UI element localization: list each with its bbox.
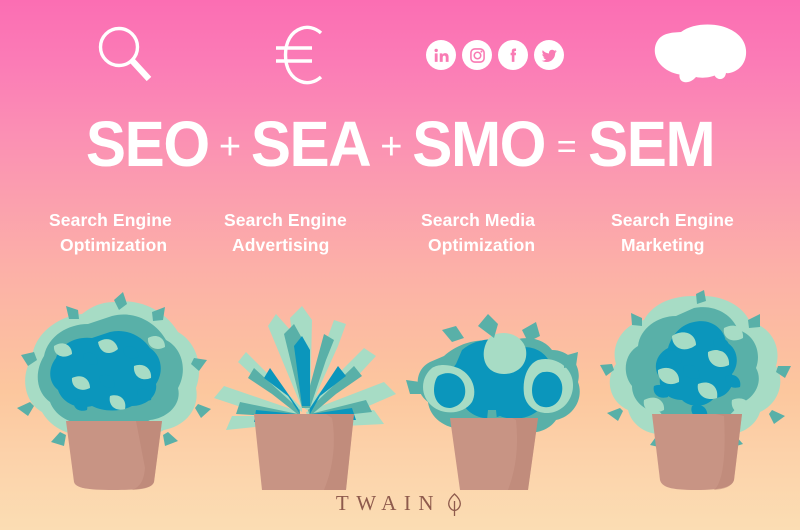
twitter-icon[interactable] bbox=[534, 40, 564, 70]
plant-bushy bbox=[14, 290, 214, 490]
subtitle-sea: Search Engine Advertising bbox=[218, 208, 408, 258]
subtitle-sea-line1: Search Engine bbox=[218, 208, 408, 233]
subtitle-smo: Search Media Optimization bbox=[416, 208, 606, 258]
social-icons-group bbox=[405, 32, 585, 78]
subtitle-seo-line2: Optimization bbox=[42, 233, 232, 258]
plant-bushy-pot bbox=[66, 421, 162, 490]
plant-tall-pot bbox=[652, 414, 742, 490]
plant-row bbox=[0, 282, 800, 490]
plant-tall bbox=[596, 290, 796, 490]
headline-operator-equals: = bbox=[550, 130, 584, 164]
brain-icon bbox=[651, 23, 749, 87]
infographic-poster: SEO + SEA + SMO = SEM Search Engine Opti… bbox=[0, 0, 800, 530]
search-icon-cell bbox=[50, 20, 200, 90]
subtitle-sem: Search Engine Marketing bbox=[606, 208, 796, 258]
subtitle-sea-line2: Advertising bbox=[218, 233, 408, 258]
headline-term-sem: SEM bbox=[588, 112, 714, 176]
subtitle-smo-line1: Search Media bbox=[416, 208, 606, 233]
brand-logo-text: TWAIN bbox=[336, 491, 441, 516]
headline-operator-plus-1: + bbox=[213, 128, 247, 166]
plant-spiky bbox=[206, 290, 401, 490]
headline-term-seo: SEO bbox=[86, 112, 209, 176]
headline: SEO + SEA + SMO = SEM bbox=[0, 108, 800, 180]
subtitle-seo: Search Engine Optimization bbox=[42, 208, 232, 258]
leaf-icon bbox=[445, 492, 464, 517]
linkedin-icon[interactable] bbox=[426, 40, 456, 70]
subtitle-sem-line2: Marketing bbox=[606, 233, 796, 258]
instagram-icon[interactable] bbox=[462, 40, 492, 70]
plant-spiky-pot bbox=[254, 414, 354, 490]
headline-operator-plus-2: + bbox=[374, 128, 408, 166]
icon-row bbox=[0, 0, 800, 105]
subtitle-row: Search Engine Optimization Search Engine… bbox=[0, 208, 800, 272]
subtitle-smo-line2: Optimization bbox=[416, 233, 606, 258]
headline-term-sea: SEA bbox=[251, 112, 370, 176]
headline-term-smo: SMO bbox=[413, 112, 546, 176]
brand-logo: TWAIN bbox=[0, 491, 800, 516]
brain-icon-cell bbox=[620, 20, 780, 90]
subtitle-sem-line1: Search Engine bbox=[606, 208, 796, 233]
plant-broadleaf bbox=[392, 290, 592, 490]
facebook-icon[interactable] bbox=[498, 40, 528, 70]
subtitle-seo-line1: Search Engine bbox=[42, 208, 232, 233]
plant-broadleaf-pot bbox=[450, 418, 538, 490]
search-icon bbox=[92, 22, 158, 88]
euro-icon bbox=[271, 21, 329, 89]
euro-icon-cell bbox=[225, 20, 375, 90]
